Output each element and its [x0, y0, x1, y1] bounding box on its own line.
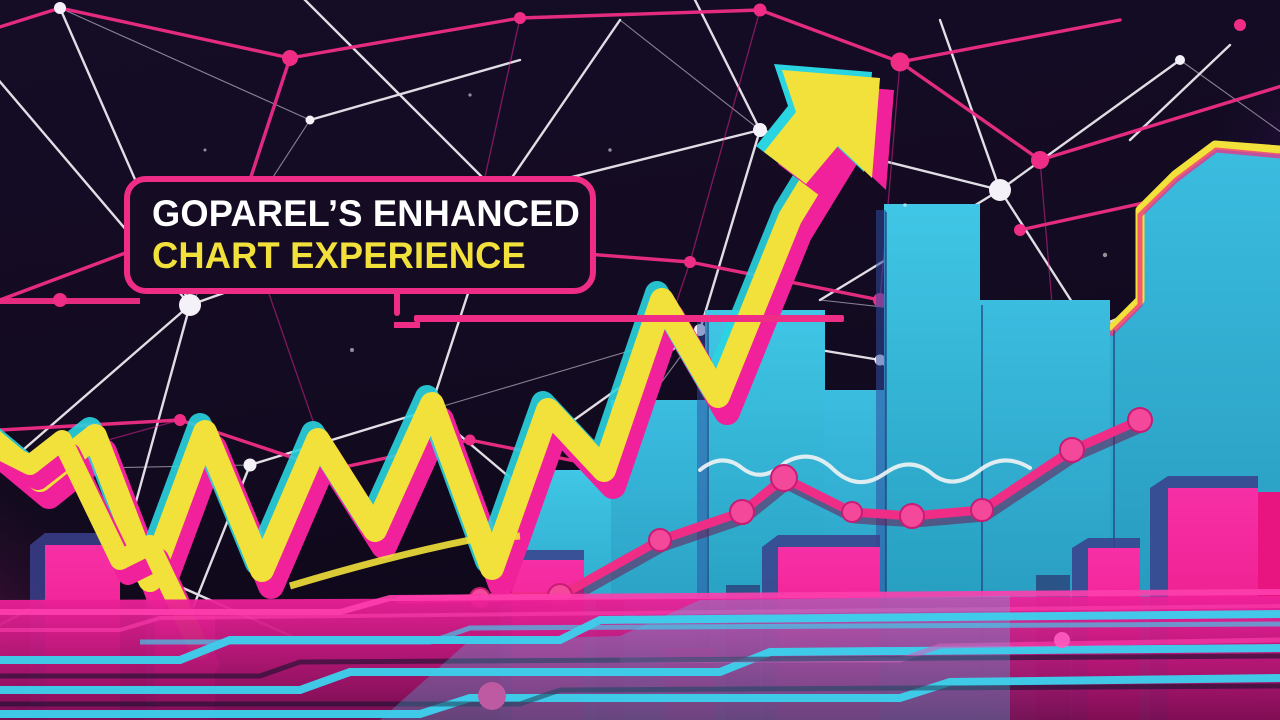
poster-canvas: GOPAREL’S ENHANCED CHART EXPERIENCE — [0, 0, 1280, 720]
poster-artwork — [0, 0, 1280, 720]
title-line-primary: GOPAREL’S ENHANCED — [152, 193, 580, 235]
circuit-floor — [0, 592, 1280, 720]
callout-tail-run-left — [0, 298, 140, 304]
callout-tail-run — [414, 315, 844, 322]
title-line-secondary: CHART EXPERIENCE — [152, 235, 526, 277]
title-callout: GOPAREL’S ENHANCED CHART EXPERIENCE — [124, 176, 596, 294]
circuit-node — [1054, 632, 1070, 648]
